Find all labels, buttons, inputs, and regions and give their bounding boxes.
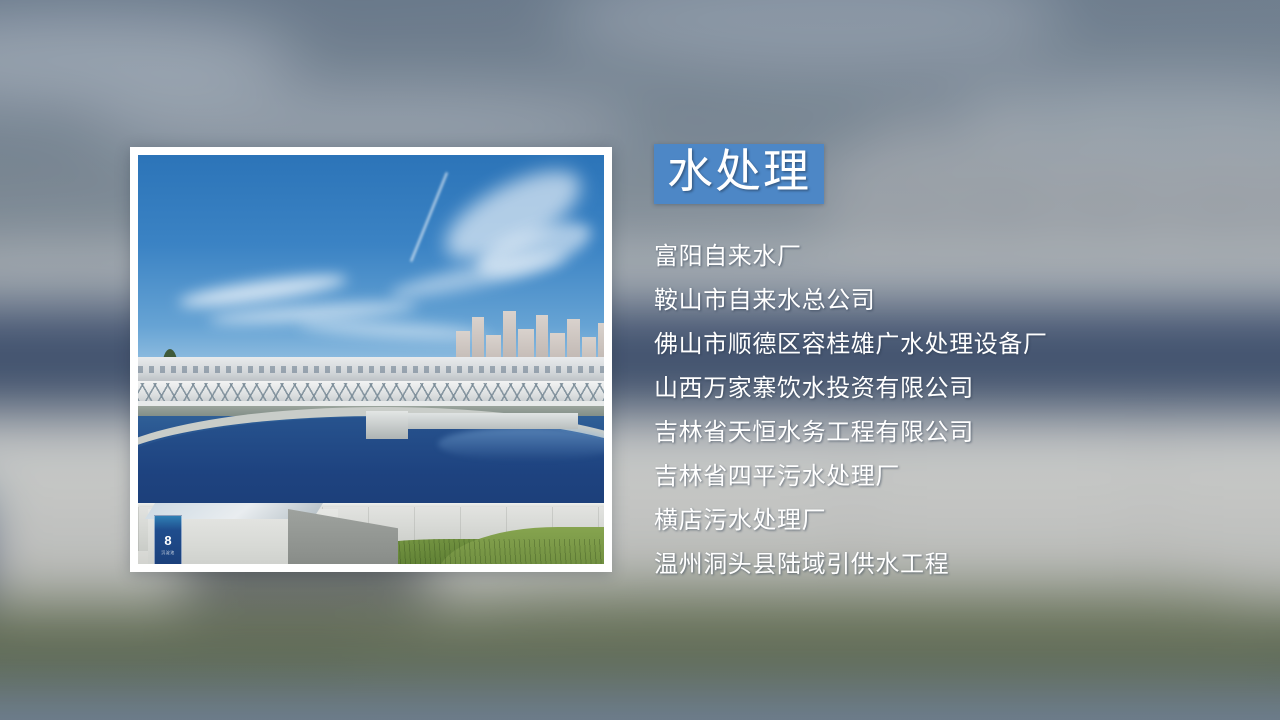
page-title-text: 水处理 [667, 147, 811, 197]
photo-card: 8 沉淀池 [130, 147, 612, 572]
content-panel: 水处理 富阳自来水厂 鞍山市自来水总公司 佛山市顺德区容桂雄广水处理设备厂 山西… [654, 144, 1254, 586]
customer-list: 富阳自来水厂 鞍山市自来水总公司 佛山市顺德区容桂雄广水处理设备厂 山西万家寨饮… [654, 234, 1254, 586]
photo-plant-buildings [138, 357, 604, 383]
list-item: 鞍山市自来水总公司 [654, 278, 1254, 322]
photo-sign-subtext: 沉淀池 [155, 550, 181, 556]
photo-water-reflection [438, 427, 604, 461]
photo-basin-pier [366, 411, 408, 439]
photo-sign-number: 8 [155, 534, 181, 547]
list-item: 佛山市顺德区容桂雄广水处理设备厂 [654, 322, 1254, 366]
page-title: 水处理 [654, 144, 824, 204]
list-item: 横店污水处理厂 [654, 498, 1254, 542]
list-item: 温州洞头县陆域引供水工程 [654, 542, 1254, 586]
list-item: 山西万家寨饮水投资有限公司 [654, 366, 1254, 410]
list-item: 吉林省四平污水处理厂 [654, 454, 1254, 498]
photo-bridge-truss [138, 383, 604, 401]
photo-water-treatment-plant: 8 沉淀池 [138, 155, 604, 564]
slide-root: 8 沉淀池 水处理 富阳自来水厂 鞍山市自来水总公司 佛山市顺德区容桂雄广水处理… [0, 0, 1280, 720]
photo-sign-plate: 8 沉淀池 [154, 515, 182, 564]
list-item: 吉林省天恒水务工程有限公司 [654, 410, 1254, 454]
photo-basin-walkway [378, 413, 578, 429]
list-item: 富阳自来水厂 [654, 234, 1254, 278]
